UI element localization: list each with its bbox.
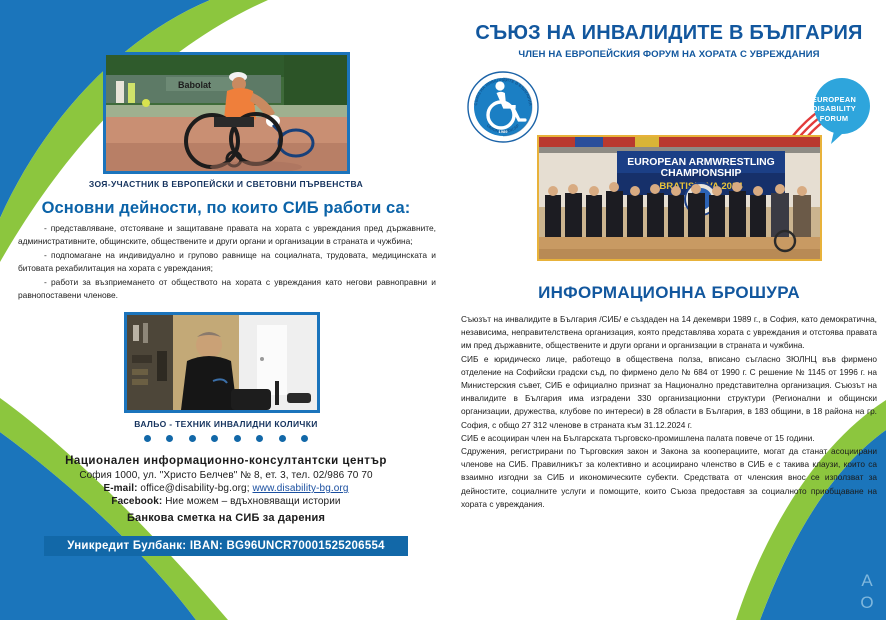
dot [189, 435, 196, 442]
about-paragraph: СИБ е асоцииран член на Българската търг… [461, 432, 877, 445]
svg-text:1989: 1989 [499, 129, 509, 134]
corner-letters: A O [854, 570, 880, 614]
activities-list: - представляване, отстояване и защитаван… [18, 222, 436, 302]
dot [279, 435, 286, 442]
right-column: СЪЮЗ НА ИНВАЛИДИТЕ В БЪЛГАРИЯ ЧЛЕН НА ЕВ… [452, 0, 886, 620]
about-paragraph: СИБ е юридическо лице, работещо в общест… [461, 353, 877, 432]
photo-armwrestling-team: EUROPEAN ARMWRESTLING CHAMPIONSHIP BRATI… [537, 135, 822, 261]
dot [166, 435, 173, 442]
caption-technician-photo: ВАЛЬО - ТЕХНИК ИНВАЛИДНИ КОЛИЧКИ [0, 419, 452, 429]
brochure-page: Babolat [0, 0, 886, 620]
about-text: Съюзът на инвалидите в България /СИБ/ е … [461, 313, 877, 511]
contact-address: София 1000, ул. "Христо Белчев" № 8, ет.… [0, 470, 452, 481]
svg-text:Babolat: Babolat [178, 80, 211, 90]
about-paragraph: Сдружения, регистрирани по Търговския за… [461, 445, 877, 511]
photo-wheelchair-technician [124, 312, 320, 413]
facebook-value: Ние можем – вдъхновяващи истории [165, 496, 340, 507]
contact-email-line: E-mail: office@disability-bg.org; www.di… [0, 483, 452, 494]
dot [256, 435, 263, 442]
left-column: Babolat [0, 0, 452, 620]
dot [211, 435, 218, 442]
contact-block: Национален информационно-консултантски ц… [0, 455, 452, 524]
dot-separator [0, 435, 452, 442]
contact-center-title: Национален информационно-консултантски ц… [0, 455, 452, 467]
iban-bar: Уникредит Булбанк: IBAN: BG96UNCR7000152… [44, 536, 408, 556]
contact-facebook-line: Facebook: Ние можем – вдъхновяващи истор… [0, 496, 452, 507]
svg-text:EUROPEAN ARMWRESTLING: EUROPEAN ARMWRESTLING [627, 157, 774, 168]
activity-item: - подпомагане на индивидуално и групово … [18, 249, 436, 276]
email-value: office@disability-bg.org; [140, 483, 249, 494]
corner-letter-a: A [854, 570, 880, 592]
organization-subtitle: ЧЛЕН НА ЕВРОПЕЙСКИЯ ФОРУМ НА ХОРАТА С УВ… [452, 49, 886, 60]
svg-text:CHAMPIONSHIP: CHAMPIONSHIP [661, 168, 742, 179]
about-paragraph: Съюзът на инвалидите в България /СИБ/ е … [461, 313, 877, 353]
website-link[interactable]: www.disability-bg.org [252, 483, 348, 494]
activity-item: - представляване, отстояване и защитаван… [18, 222, 436, 249]
dot [301, 435, 308, 442]
caption-tennis-photo: ЗОЯ-УЧАСТНИК В ЕВРОПЕЙСКИ И СВЕТОВНИ ПЪР… [0, 179, 452, 189]
dot [144, 435, 151, 442]
facebook-label: Facebook: [111, 496, 162, 507]
organization-title: СЪЮЗ НА ИНВАЛИДИТЕ В БЪЛГАРИЯ [452, 22, 886, 45]
brochure-title: ИНФОРМАЦИОННА БРОШУРА [452, 283, 886, 303]
corner-letter-o: O [854, 592, 880, 614]
email-label: E-mail: [103, 483, 137, 494]
sib-logo: СЪЮЗ НА ИНВАЛИДИТЕ В БЪЛГАРИЯ UNION HAND… [466, 70, 540, 144]
dot [234, 435, 241, 442]
activities-heading: Основни дейности, по които СИБ работи са… [0, 199, 452, 218]
bank-donations-title: Банкова сметка на СИБ за дарения [0, 512, 452, 524]
photo-tennis-player: Babolat [103, 52, 350, 174]
activity-item: - работи за възприемането от обществото … [18, 276, 436, 303]
